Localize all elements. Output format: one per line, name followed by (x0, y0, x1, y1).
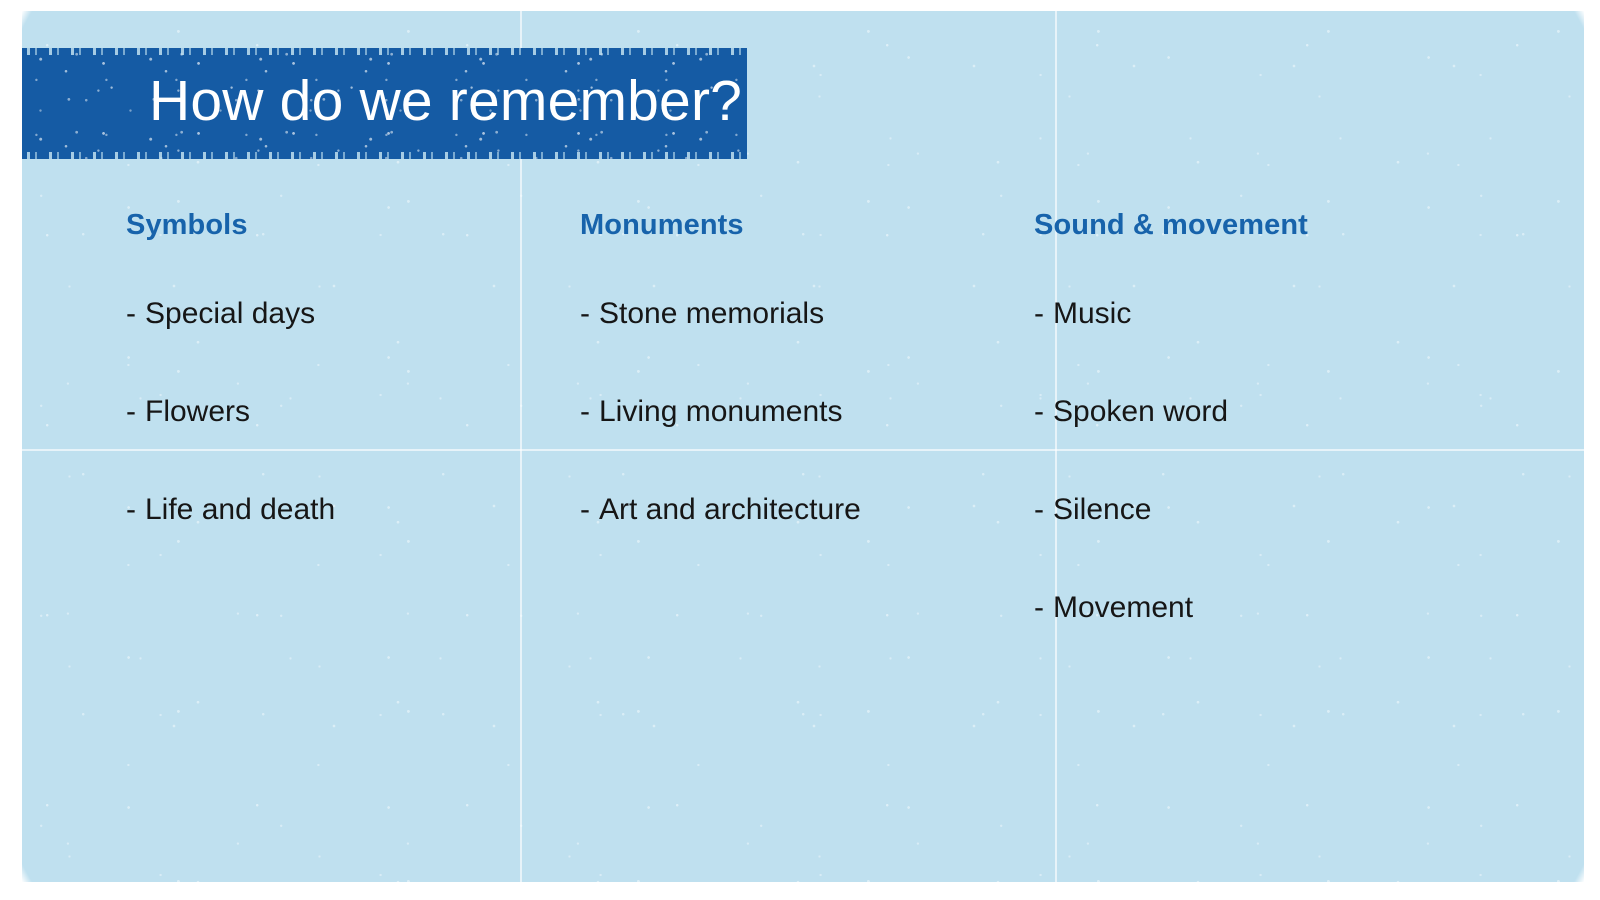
dash-bullet: - (126, 495, 136, 525)
dash-bullet: - (1034, 593, 1044, 623)
list-item-label: Art and architecture (599, 495, 861, 525)
list-item-label: Silence (1053, 495, 1151, 525)
dash-bullet: - (580, 299, 590, 329)
list-item: - Stone memorials (580, 299, 861, 397)
page-title: How do we remember? (149, 73, 742, 134)
list-item: - Living monuments (580, 397, 861, 495)
dash-bullet: - (580, 397, 590, 427)
list-item-label: Spoken word (1053, 397, 1228, 427)
list-item: - Spoken word (1034, 397, 1308, 495)
list-item: - Music (1034, 299, 1308, 397)
content-columns: Symbols - Special days - Flowers - Life … (22, 11, 1584, 882)
list-item-label: Life and death (145, 495, 335, 525)
list-item-label: Stone memorials (599, 299, 824, 329)
column-heading-monuments: Monuments (580, 209, 861, 242)
list-item-label: Music (1053, 299, 1131, 329)
list-item: - Special days (126, 299, 335, 397)
list-item-label: Special days (145, 299, 315, 329)
dash-bullet: - (580, 495, 590, 525)
list-item: - Flowers (126, 397, 335, 495)
slide-panel: How do we remember? Symbols - Special da… (22, 11, 1584, 882)
list-item: - Life and death (126, 495, 335, 525)
dash-bullet: - (126, 397, 136, 427)
list-item-label: Living monuments (599, 397, 842, 427)
dash-bullet: - (1034, 495, 1044, 525)
dash-bullet: - (1034, 397, 1044, 427)
list-item: - Art and architecture (580, 495, 861, 525)
list-item-label: Movement (1053, 593, 1193, 623)
list-item: - Movement (1034, 593, 1308, 623)
dash-bullet: - (1034, 299, 1044, 329)
column-heading-sound-and-movement: Sound & movement (1034, 209, 1308, 242)
column-heading-symbols: Symbols (126, 209, 335, 242)
column-symbols: Symbols - Special days - Flowers - Life … (126, 209, 335, 525)
list-item: - Silence (1034, 495, 1308, 593)
list-item-label: Flowers (145, 397, 250, 427)
column-monuments: Monuments - Stone memorials - Living mon… (580, 209, 861, 525)
dash-bullet: - (126, 299, 136, 329)
column-sound-and-movement: Sound & movement - Music - Spoken word -… (1034, 209, 1308, 623)
